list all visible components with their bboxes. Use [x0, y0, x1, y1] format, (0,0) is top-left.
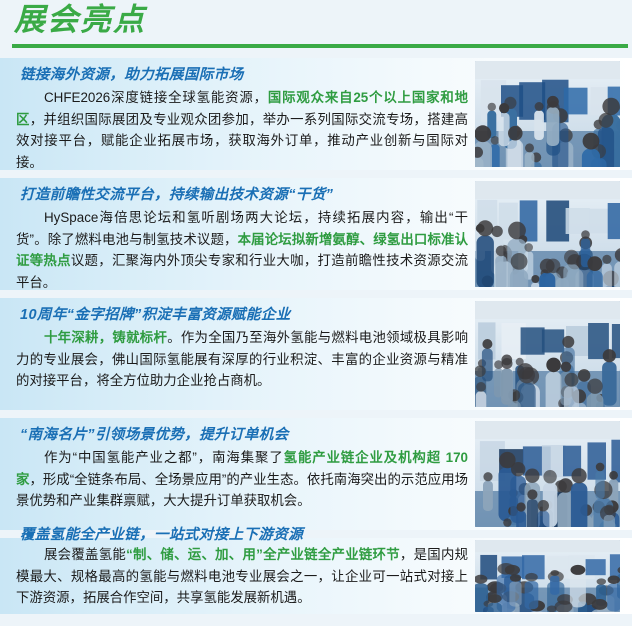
body-highlight: 十年深耕，铸就标杆: [44, 330, 167, 345]
body-text: 议题，汇聚海内外顶尖专家和行业大咖，打造前瞻性技术资源交流平台。: [16, 253, 468, 290]
highlight-section-full-industry-chain: 覆盖氢能全产业链，一站式对接上下游资源展会覆盖氢能“制、储、运、加、用”全产业链…: [0, 538, 632, 614]
section-content: 覆盖氢能全产业链，一站式对接上下游资源展会覆盖氢能“制、储、运、加、用”全产业链…: [14, 538, 632, 614]
body-text: 展会覆盖氢能: [44, 547, 126, 562]
highlight-section-list: 链接海外资源，助力拓展国际市场CHFE2026深度链接全球氢能资源，国际观众来自…: [0, 58, 632, 622]
section-body: HySpace海倍思论坛和氢听剧场两大论坛，持续拓展内容，输出“干货”。除了燃料…: [16, 207, 468, 293]
forum-networking-photo: [475, 181, 620, 287]
highlight-section-forward-looking-platform: 打造前瞻性交流平台，持续输出技术资源“干货”HySpace海倍思论坛和氢听剧场两…: [0, 178, 632, 290]
body-text: 作为“中国氢能产业之都”，南海集聚了: [44, 450, 284, 465]
page-title: 展会亮点: [14, 2, 146, 38]
section-heading: 覆盖氢能全产业链，一站式对接上下游资源: [20, 526, 303, 544]
exhibition-hall-crowd-photo: [475, 61, 620, 167]
conference-audience-photo: [475, 421, 620, 527]
section-heading: “南海名片”引领场景优势，提升订单机会: [20, 426, 289, 444]
header-divider: [12, 44, 628, 48]
japan-pavilion-booth-photo: [475, 301, 620, 407]
body-text: ，形成“全链条布局、全场景应用”的产业生态。依托南海突出的示范应用场景优势和产业…: [16, 472, 468, 509]
section-heading: 打造前瞻性交流平台，持续输出技术资源“干货”: [20, 186, 333, 204]
section-heading: 链接海外资源，助力拓展国际市场: [20, 66, 244, 84]
highlight-section-nanhai-card: “南海名片”引领场景优势，提升订单机会作为“中国氢能产业之都”，南海集聚了氢能产…: [0, 418, 632, 530]
section-heading: 10周年“金字招牌”积淀丰富资源赋能企业: [20, 306, 291, 324]
section-body: CHFE2026深度链接全球氢能资源，国际观众来自25个以上国家和地区，并组织国…: [16, 87, 468, 173]
business-visitors-talking-photo: [475, 540, 620, 612]
highlight-section-overseas-resources: 链接海外资源，助力拓展国际市场CHFE2026深度链接全球氢能资源，国际观众来自…: [0, 58, 632, 170]
body-text: CHFE2026深度链接全球氢能资源，: [44, 90, 268, 105]
section-content: 链接海外资源，助力拓展国际市场CHFE2026深度链接全球氢能资源，国际观众来自…: [14, 58, 632, 170]
section-content: 打造前瞻性交流平台，持续输出技术资源“干货”HySpace海倍思论坛和氢听剧场两…: [14, 178, 632, 290]
exhibition-highlights-page: 展会亮点 链接海外资源，助力拓展国际市场CHFE2026深度链接全球氢能资源，国…: [0, 0, 632, 626]
highlight-section-ten-year-brand: 10周年“金字招牌”积淀丰富资源赋能企业十年深耕，铸就标杆。作为全国乃至海外氢能…: [0, 298, 632, 410]
section-content: 10周年“金字招牌”积淀丰富资源赋能企业十年深耕，铸就标杆。作为全国乃至海外氢能…: [14, 298, 632, 410]
section-body: 作为“中国氢能产业之都”，南海集聚了氢能产业链企业及机构超 170 家，形成“全…: [16, 447, 468, 512]
section-body: 十年深耕，铸就标杆。作为全国乃至海外氢能与燃料电池领域极具影响力的专业展会，佛山…: [16, 327, 468, 392]
section-body: 展会覆盖氢能“制、储、运、加、用”全产业链全产业链环节，是国内规模最大、规格最高…: [16, 544, 468, 609]
section-content: “南海名片”引领场景优势，提升订单机会作为“中国氢能产业之都”，南海集聚了氢能产…: [14, 418, 632, 530]
body-text: ，并组织国际展团及专业观众团参加，举办一系列国际交流专场，搭建高效对接平台，赋能…: [16, 112, 468, 170]
page-header: 展会亮点: [0, 0, 632, 52]
body-highlight: “制、储、运、加、用”全产业链全产业链环节: [126, 547, 400, 562]
